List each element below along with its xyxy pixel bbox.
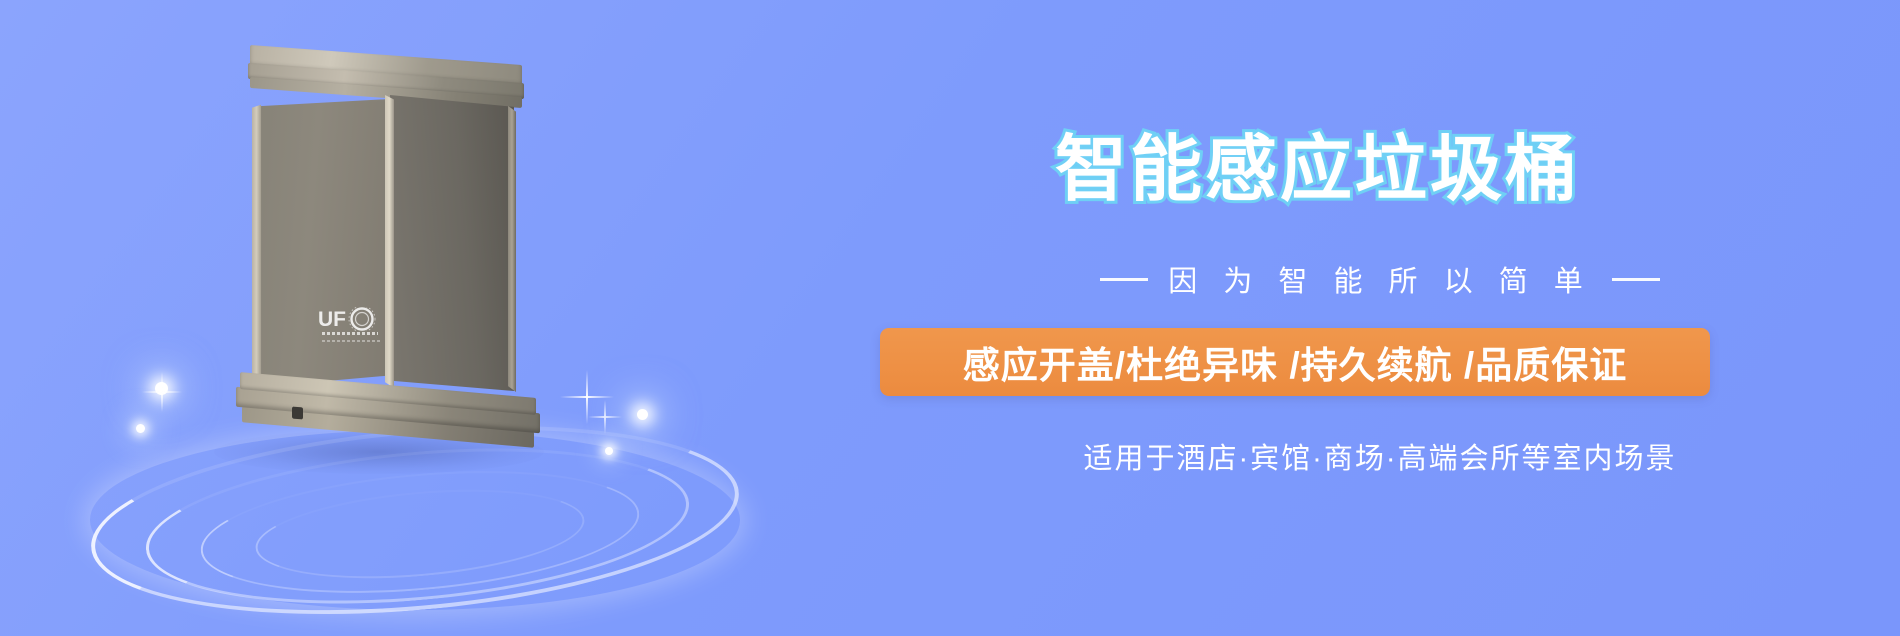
product-scene: UF	[0, 0, 860, 636]
brand-logo-subtext-cn	[322, 332, 378, 335]
subline-rule-left	[1100, 278, 1148, 281]
bin-body: UF	[236, 95, 536, 395]
glow-dot-left-2	[136, 424, 145, 433]
bin-face-right	[390, 95, 514, 391]
bin-base-sensor-slot	[292, 407, 303, 420]
bin-edge-left	[252, 99, 261, 389]
banner-subline: 因 为 智 能 所 以 简 单	[860, 258, 1900, 300]
glow-dot-right-1	[637, 409, 648, 420]
bin-edge-right	[508, 100, 516, 392]
subline-text: 因 为 智 能 所 以 简 单	[1168, 258, 1591, 300]
bin-base	[230, 385, 550, 455]
ufo-logo-icon: UF	[318, 307, 388, 331]
feature-highlight-band: 感应开盖/杜绝异味 /持久续航 /品质保证	[880, 328, 1710, 396]
bin-edge-center	[385, 95, 394, 391]
usage-scenario-text: 适用于酒店·宾馆·商场·高端会所等室内场景	[860, 435, 1900, 477]
glow-dot-right-2	[605, 447, 613, 455]
sparkle-icon-3	[142, 372, 182, 412]
brand-logo: UF	[318, 307, 388, 353]
promo-banner: UF	[0, 0, 1900, 636]
banner-headline: 智能感应垃圾桶	[1055, 134, 1580, 206]
feature-highlight-text: 感应开盖/杜绝异味 /持久续航 /品质保证	[963, 335, 1627, 389]
subline-rule-right	[1612, 278, 1660, 281]
bin-face-left: UF	[258, 99, 390, 387]
sparkle-icon-2	[588, 400, 622, 434]
brand-logo-subtext-en	[322, 340, 382, 342]
product-trash-bin: UF	[236, 55, 536, 435]
banner-copy: 智能感应垃圾桶 因 为 智 能 所 以 简 单 感应开盖/杜绝异味 /持久续航 …	[860, 0, 1900, 636]
polygon-network-graphic	[540, 205, 672, 395]
svg-text:UF: UF	[318, 308, 346, 331]
